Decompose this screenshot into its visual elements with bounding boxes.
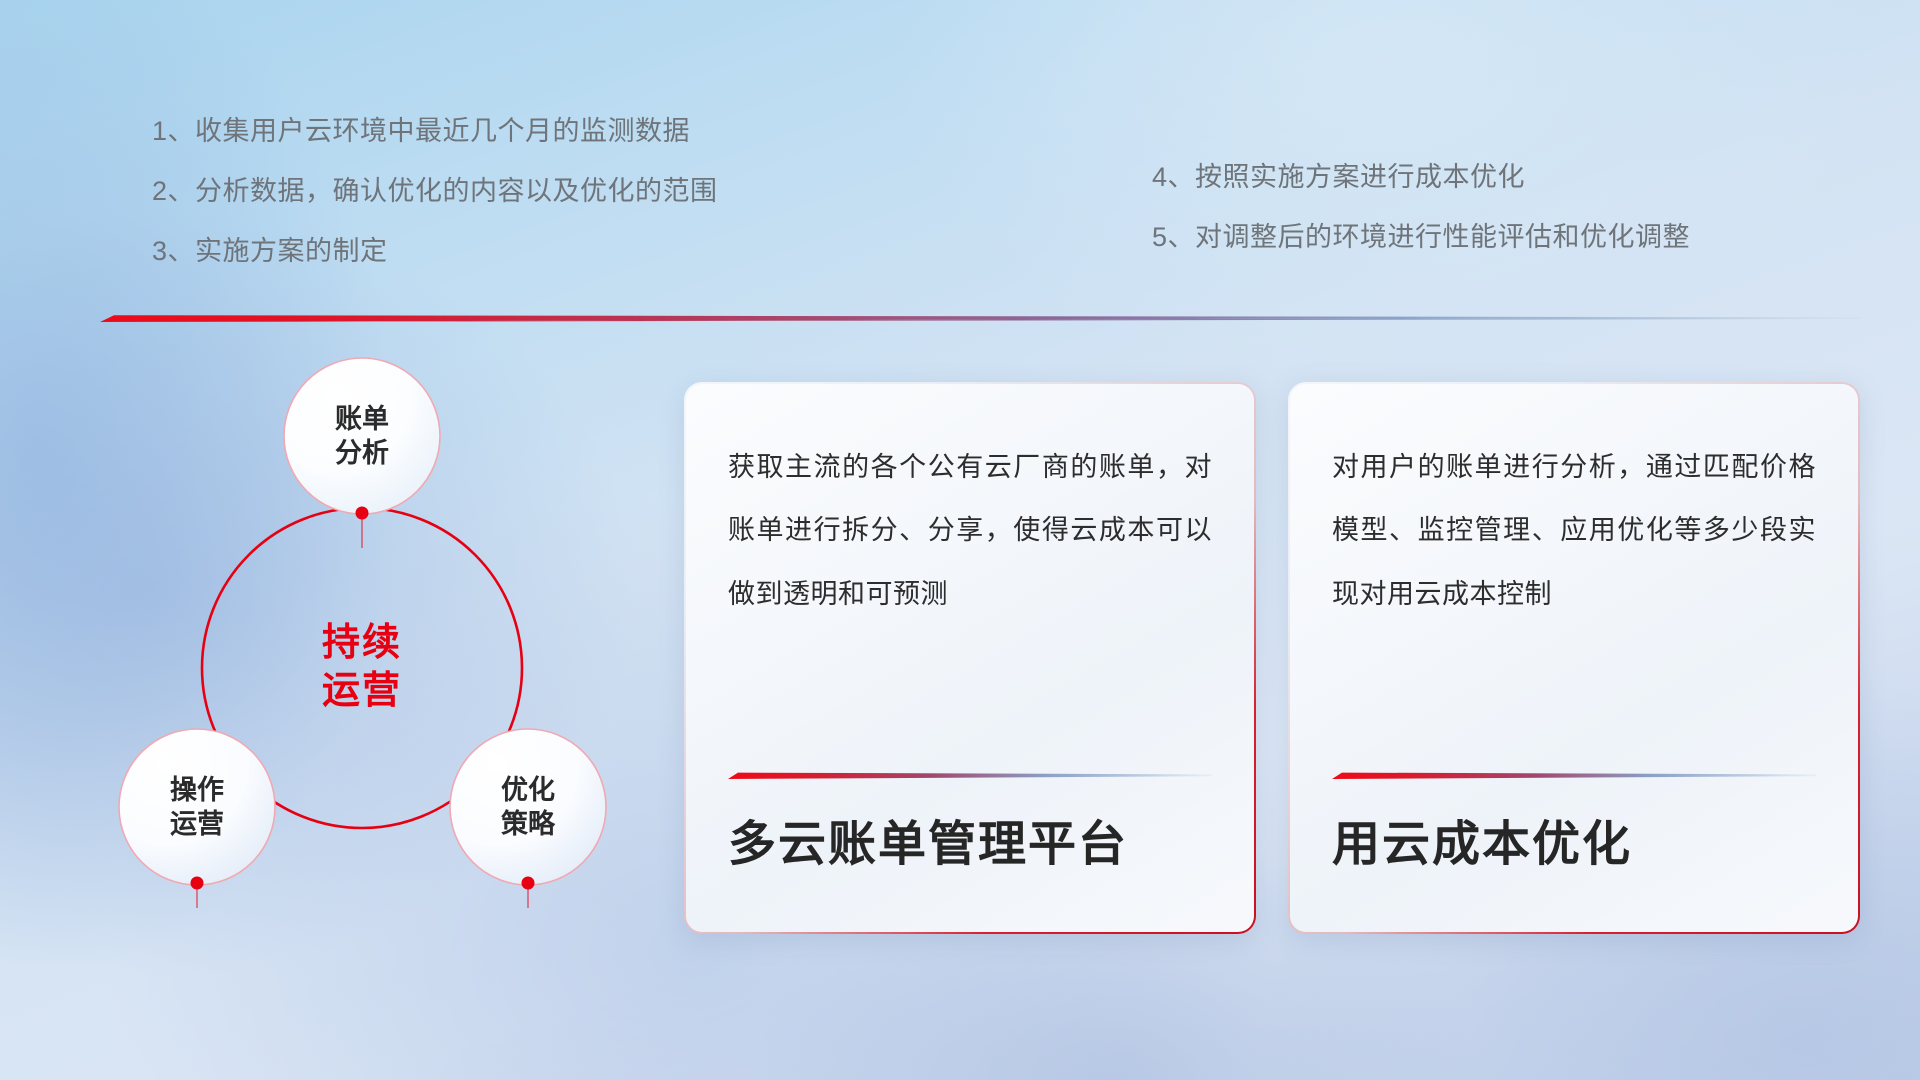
bubble-bill-analysis[interactable]: 账单 分析 (284, 358, 440, 514)
card-multi-cloud-billing-platform[interactable]: 获取主流的各个公有云厂商的账单，对账单进行拆分、分享，使得云成本可以做到透明和可… (684, 382, 1256, 934)
card-body-text: 对用户的账单进行分析，通过匹配价格模型、监控管理、应用优化等多少段实现对用云成本… (1332, 436, 1816, 626)
slide-canvas: 1、收集用户云环境中最近几个月的监测数据 2、分析数据，确认优化的内容以及优化的… (0, 0, 1920, 1080)
center-label-line2: 运营 (322, 670, 402, 712)
card-divider-line (728, 771, 1212, 779)
bubble-bill-analysis-line1: 账单 (335, 404, 389, 434)
header-divider-line (100, 313, 1862, 322)
step-item-1: 1、收集用户云环境中最近几个月的监测数据 (152, 118, 718, 145)
bubble-bill-analysis-line2: 分析 (335, 438, 389, 468)
continuous-operation-diagram: 账单 分析 操作 运营 优化 策略 持续 运营 (96, 352, 666, 952)
bubble-optimization-policy[interactable]: 优化 策略 (450, 729, 606, 885)
node-dot-bottom-right (522, 877, 535, 890)
node-dot-bottom-left (191, 877, 204, 890)
bubble-optimization-policy-line2: 策略 (501, 808, 556, 839)
bubble-operations[interactable]: 操作 运营 (119, 729, 275, 885)
step-item-5: 5、对调整后的环境进行性能评估和优化调整 (1152, 224, 1690, 251)
steps-column-right: 4、按照实施方案进行成本优化 5、对调整后的环境进行性能评估和优化调整 (1152, 164, 1690, 284)
card-inner: 获取主流的各个公有云厂商的账单，对账单进行拆分、分享，使得云成本可以做到透明和可… (686, 384, 1254, 932)
card-cloud-cost-optimization[interactable]: 对用户的账单进行分析，通过匹配价格模型、监控管理、应用优化等多少段实现对用云成本… (1288, 382, 1860, 934)
step-item-4: 4、按照实施方案进行成本优化 (1152, 164, 1690, 191)
center-label-line1: 持续 (322, 622, 402, 664)
card-inner: 对用户的账单进行分析，通过匹配价格模型、监控管理、应用优化等多少段实现对用云成本… (1290, 384, 1858, 932)
card-title: 用云成本优化 (1332, 819, 1816, 896)
node-dot-top (356, 507, 369, 520)
step-item-3: 3、实施方案的制定 (152, 238, 718, 265)
card-title: 多云账单管理平台 (728, 819, 1212, 896)
card-divider-line (1332, 771, 1816, 779)
bubble-operations-line1: 操作 (170, 775, 224, 805)
bubble-operations-line2: 运营 (170, 809, 224, 839)
card-body-text: 获取主流的各个公有云厂商的账单，对账单进行拆分、分享，使得云成本可以做到透明和可… (728, 436, 1212, 626)
bubble-optimization-policy-line1: 优化 (501, 775, 555, 805)
steps-column-left: 1、收集用户云环境中最近几个月的监测数据 2、分析数据，确认优化的内容以及优化的… (152, 118, 718, 298)
step-item-2: 2、分析数据，确认优化的内容以及优化的范围 (152, 178, 718, 205)
